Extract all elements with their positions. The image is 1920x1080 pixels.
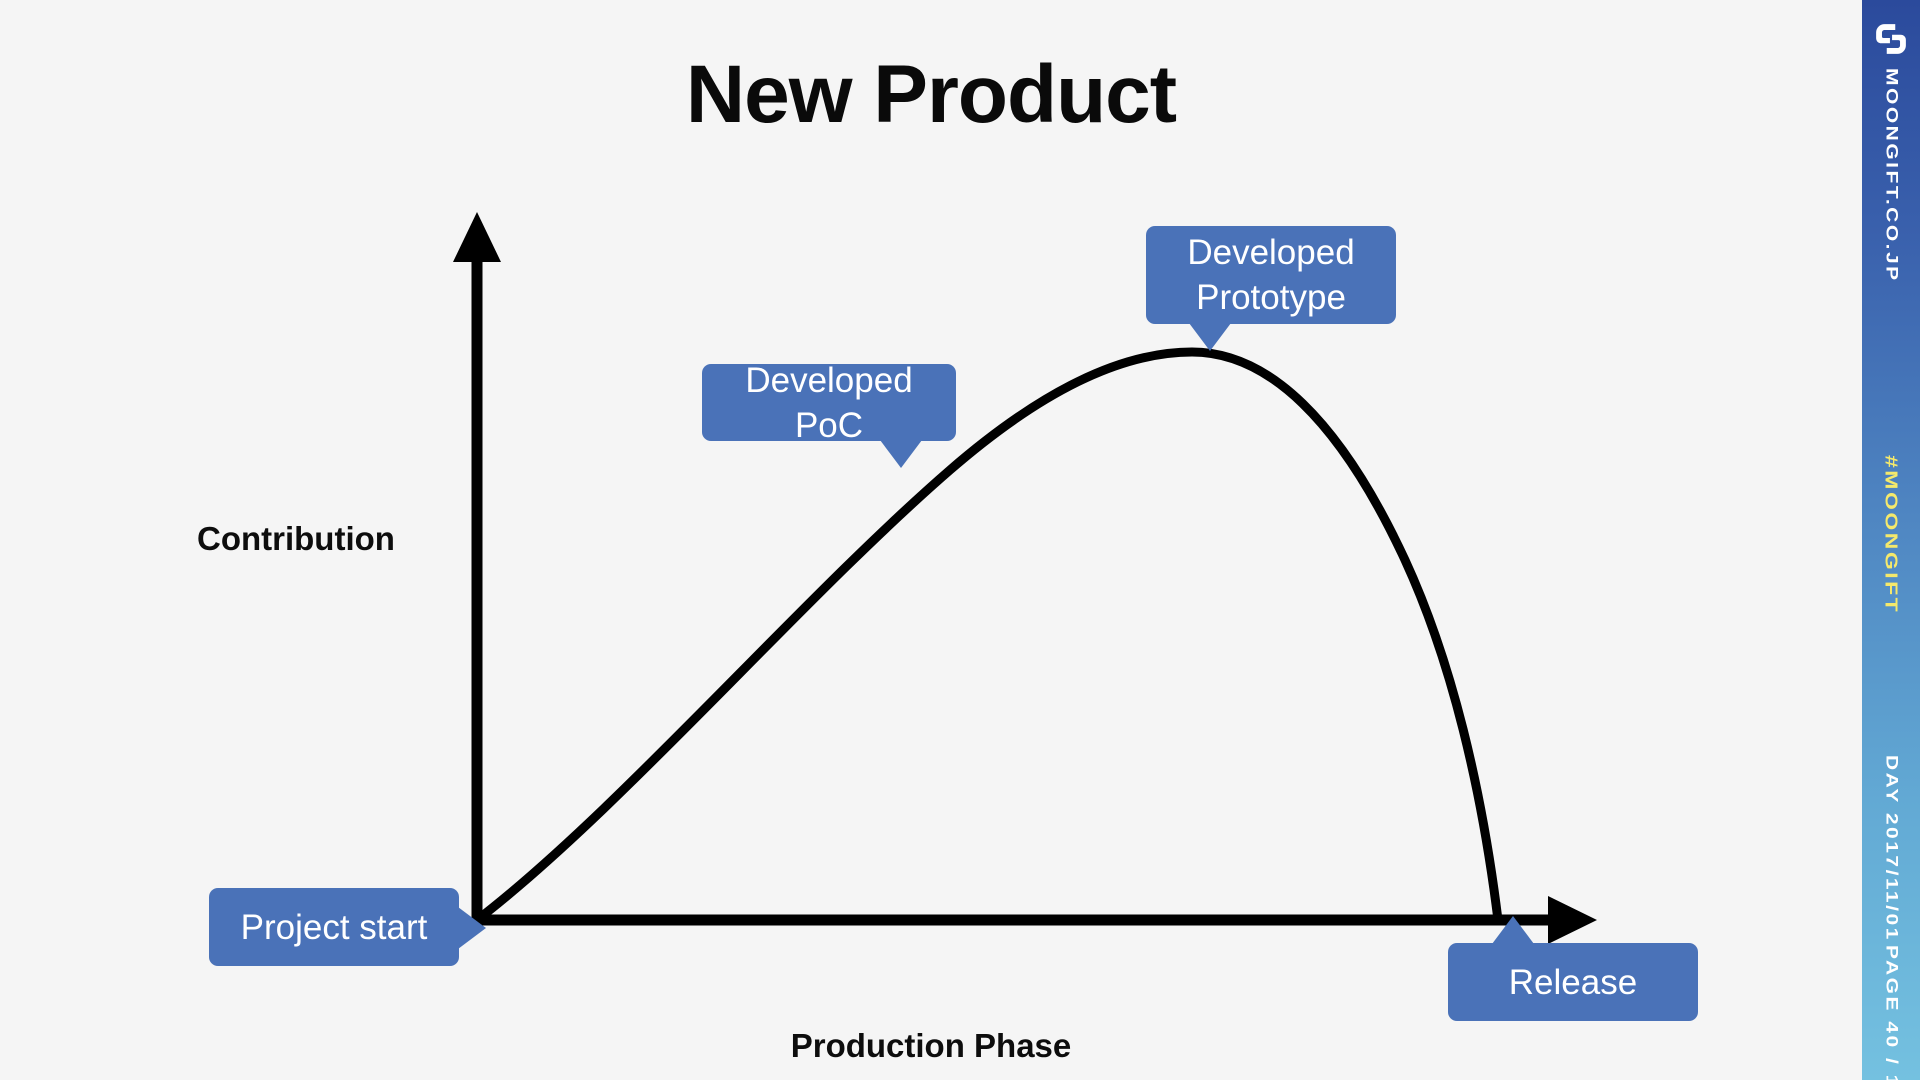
callout-developed-prototype[interactable]: Developed Prototype (1146, 226, 1396, 324)
callout-tail-down-icon (1189, 323, 1231, 351)
slide-canvas: New Product Contribution Production Phas… (0, 0, 1920, 1080)
sidebar-hashtag: #MOONGIFT (1880, 455, 1901, 614)
brand-sidebar: MOONGIFT.CO.JP #MOONGIFT DAY 2017/11/01 … (1862, 0, 1920, 1080)
callout-tail-up-icon (1492, 916, 1534, 944)
x-axis (477, 896, 1597, 944)
callout-developed-poc-label: Developed PoC (724, 358, 934, 448)
callout-developed-poc[interactable]: Developed PoC (702, 364, 956, 441)
callout-project-start-label: Project start (241, 905, 428, 950)
sidebar-day: DAY 2017/11/01 (1882, 755, 1901, 942)
chart-area: Contribution Production Phase Developed … (0, 0, 1862, 1080)
contribution-curve (477, 352, 1498, 920)
callout-developed-prototype-label-line1: Developed (1187, 230, 1354, 275)
callout-release-label: Release (1509, 960, 1637, 1005)
sidebar-page-number: PAGE 40 / 12 (1882, 945, 1901, 1080)
y-axis (453, 212, 501, 920)
callout-project-start[interactable]: Project start (209, 888, 459, 966)
callout-release[interactable]: Release (1448, 943, 1698, 1021)
sidebar-site-url: MOONGIFT.CO.JP (1882, 68, 1901, 283)
callout-developed-prototype-label-line2: Prototype (1196, 275, 1346, 320)
callout-tail-right-icon (458, 907, 486, 949)
y-axis-title: Contribution (197, 520, 395, 558)
x-axis-title: Production Phase (0, 1027, 1862, 1065)
moongift-logo-icon (1874, 22, 1908, 56)
callout-tail-down-icon (880, 440, 922, 468)
